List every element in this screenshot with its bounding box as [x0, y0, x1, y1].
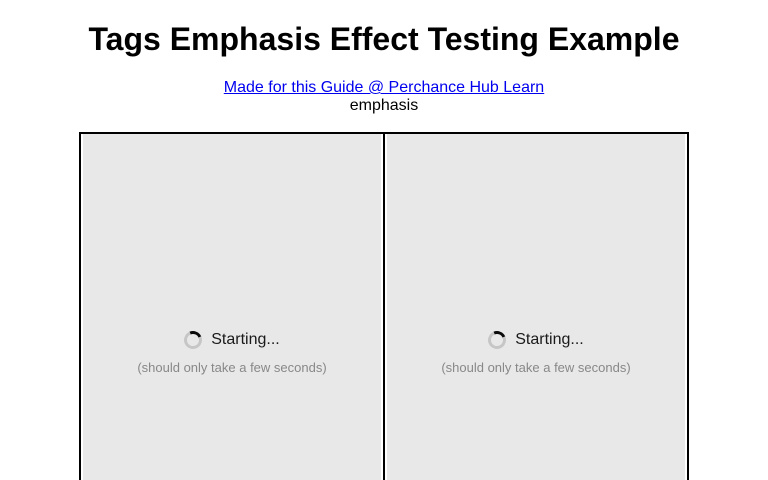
page-root: Tags Emphasis Effect Testing Example Mad… — [0, 0, 768, 480]
loading-status-text: Starting... — [515, 330, 583, 349]
panels-container: Starting... (should only take a few seco… — [79, 132, 689, 480]
panel-right[interactable]: Starting... (should only take a few seco… — [387, 134, 685, 480]
loading-block-left: Starting... (should only take a few seco… — [83, 330, 381, 375]
loading-note-text: (should only take a few seconds) — [83, 360, 381, 375]
loading-spinner-icon — [486, 328, 509, 351]
loading-note-text: (should only take a few seconds) — [387, 360, 685, 375]
panel-divider — [383, 134, 385, 480]
loading-block-right: Starting... (should only take a few seco… — [387, 330, 685, 375]
page-title: Tags Emphasis Effect Testing Example — [0, 0, 768, 58]
loading-row-left: Starting... — [83, 330, 381, 349]
subtitle-tail-text: emphasis — [0, 97, 768, 115]
subtitle-block: Made for this Guide @ Perchance Hub Lear… — [0, 79, 768, 115]
loading-status-text: Starting... — [211, 330, 279, 349]
panel-left[interactable]: Starting... (should only take a few seco… — [83, 134, 381, 480]
loading-row-right: Starting... — [387, 330, 685, 349]
loading-spinner-icon — [182, 328, 205, 351]
guide-link[interactable]: Made for this Guide @ Perchance Hub Lear… — [224, 79, 544, 96]
